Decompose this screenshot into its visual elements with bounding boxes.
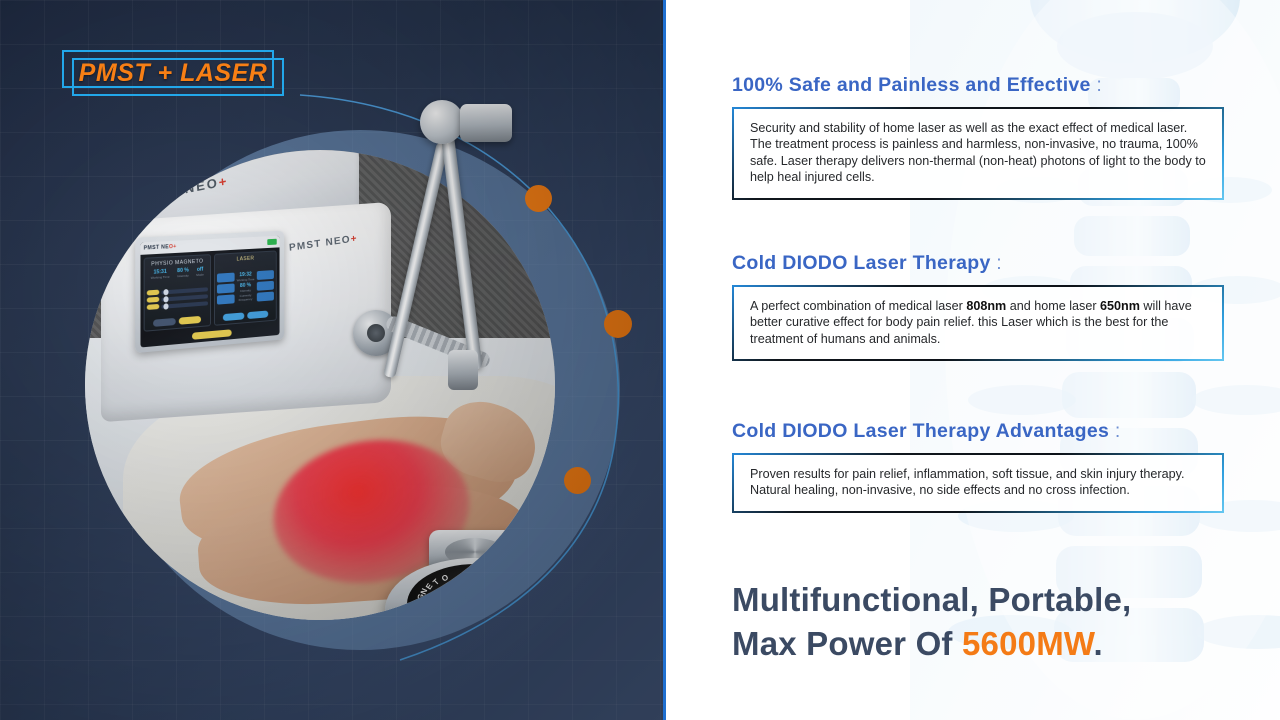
section-advantages: Cold DIODO Laser Therapy Advantages : Pr… xyxy=(732,420,1232,513)
section-1-title-text: 100% Safe and Painless and Effective xyxy=(732,74,1091,96)
arm-lower-joint xyxy=(448,350,478,390)
headline-line-2: Max Power Of 5600MW. xyxy=(732,622,1252,666)
section-2-wavelength-650: 650nm xyxy=(1100,299,1140,313)
section-3-title: Cold DIODO Laser Therapy Advantages : xyxy=(732,420,1232,443)
pmst-laser-badge: PMST + LASER xyxy=(62,50,286,94)
accent-dot-1 xyxy=(525,185,552,212)
left-product-panel: PMST NEO+ PMST NEO+ PMST NEO+ xyxy=(0,0,665,720)
arm-joint-disc xyxy=(420,100,464,144)
panel-divider xyxy=(663,0,666,720)
headline-suffix: . xyxy=(1093,625,1102,662)
bottom-headline: Multifunctional, Portable, Max Power Of … xyxy=(732,578,1252,666)
section-2-body: A perfect combination of medical laser 8… xyxy=(750,298,1208,347)
arm-joint-cylinder xyxy=(460,104,512,142)
section-2-wavelength-808: 808nm xyxy=(966,299,1006,313)
badge-label: PMST + LASER xyxy=(62,50,284,96)
accent-dot-3 xyxy=(564,467,591,494)
section-3-title-text: Cold DIODO Laser Therapy Advantages xyxy=(732,420,1109,442)
arm-segment-1 xyxy=(383,142,449,379)
arm-segment-2 xyxy=(440,130,482,370)
section-3-colon: : xyxy=(1109,420,1120,442)
section-2-title-text: Cold DIODO Laser Therapy xyxy=(732,252,991,274)
section-2-body-part1: A perfect combination of medical laser xyxy=(750,299,966,313)
section-1-body: Security and stability of home laser as … xyxy=(750,120,1208,186)
section-2-box: A perfect combination of medical laser 8… xyxy=(732,285,1224,361)
section-1-colon: : xyxy=(1091,74,1102,96)
section-safe-painless: 100% Safe and Painless and Effective : S… xyxy=(732,74,1232,200)
section-cold-diodo: Cold DIODO Laser Therapy : A perfect com… xyxy=(732,252,1232,361)
headline-line-1: Multifunctional, Portable, xyxy=(732,578,1252,622)
headline-power-value: 5600MW xyxy=(962,625,1093,662)
section-2-title: Cold DIODO Laser Therapy : xyxy=(732,252,1232,275)
section-2-body-part2: and home laser xyxy=(1006,299,1100,313)
headline-prefix: Max Power Of xyxy=(732,625,962,662)
section-2-colon: : xyxy=(991,252,1002,274)
section-1-box: Security and stability of home laser as … xyxy=(732,107,1224,200)
infographic-stage: PMST NEO+ PMST NEO+ PMST NEO+ xyxy=(0,0,1280,720)
articulated-arm xyxy=(0,0,665,720)
section-3-box: Proven results for pain relief, inflamma… xyxy=(732,453,1224,513)
section-1-title: 100% Safe and Painless and Effective : xyxy=(732,74,1232,97)
section-3-body: Proven results for pain relief, inflamma… xyxy=(750,466,1208,499)
accent-dot-2 xyxy=(604,310,632,338)
